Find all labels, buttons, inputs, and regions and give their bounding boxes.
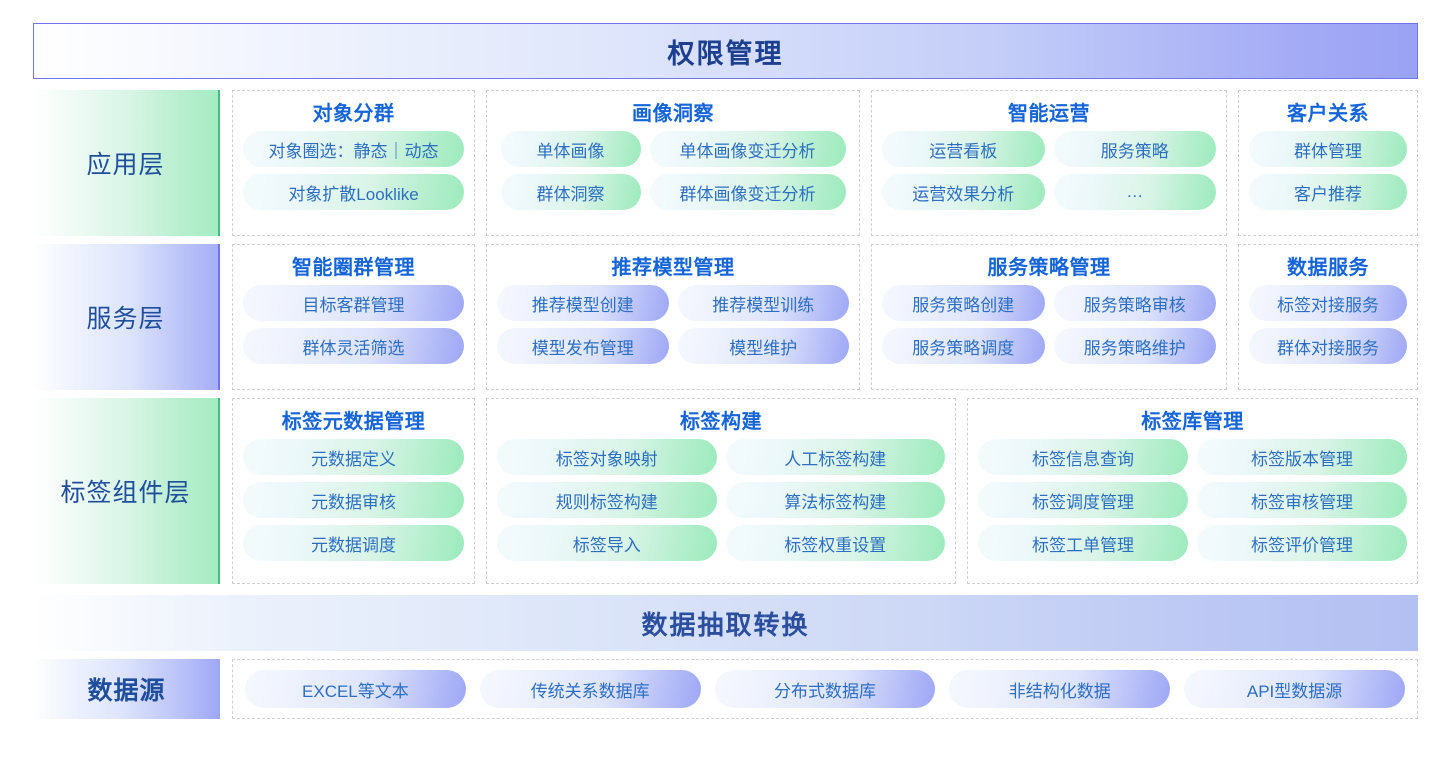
group-title: 标签元数据管理: [282, 405, 426, 434]
data-source-item[interactable]: 非结构化数据: [949, 670, 1170, 708]
pill-item[interactable]: 规则标签构建: [497, 482, 717, 518]
pill-item[interactable]: 群体洞察: [501, 174, 641, 210]
pill-line: 群体对接服务: [1249, 328, 1407, 364]
group-title: 智能圈群管理: [292, 251, 415, 280]
data-source-panel: EXCEL等文本 传统关系数据库 分布式数据库 非结构化数据 API型数据源: [232, 659, 1418, 719]
group-pill-rows: 服务策略创建 服务策略审核 服务策略调度 服务策略维护: [882, 285, 1216, 364]
pill-item-ellipsis[interactable]: …: [1054, 174, 1217, 210]
pill-item[interactable]: 标签权重设置: [726, 525, 946, 561]
group-object-segmentation[interactable]: 对象分群 对象圈选：静态｜动态 对象扩散Looklike: [232, 90, 475, 236]
pill-item[interactable]: 标签评价管理: [1197, 525, 1407, 561]
group-pill-rows: 运营看板 服务策略 运营效果分析 …: [882, 131, 1216, 210]
pill-item[interactable]: 单体画像变迁分析: [650, 131, 846, 167]
group-title: 智能运营: [1008, 97, 1090, 126]
pill-item[interactable]: 元数据定义: [243, 439, 464, 475]
pill-item[interactable]: 服务策略: [1054, 131, 1217, 167]
pill-item[interactable]: 运营效果分析: [882, 174, 1045, 210]
layer-row-tag-component: 标签组件层 标签元数据管理 元数据定义 元数据审核 元数据调度 标签构建: [33, 398, 1418, 584]
data-source-item[interactable]: 传统关系数据库: [480, 670, 701, 708]
pill-line: 群体洞察 群体画像变迁分析: [497, 174, 849, 210]
group-pill-rows: 目标客群管理 群体灵活筛选: [243, 285, 464, 364]
pill-item[interactable]: 服务策略创建: [882, 285, 1045, 321]
pill-line: 标签对象映射 人工标签构建: [497, 439, 945, 475]
pill-item[interactable]: 标签审核管理: [1197, 482, 1407, 518]
group-title: 客户关系: [1287, 97, 1369, 126]
group-pill-rows: 群体管理 客户推荐: [1249, 131, 1407, 210]
group-pill-rows: 推荐模型创建 推荐模型训练 模型发布管理 模型维护: [497, 285, 849, 364]
data-source-item[interactable]: API型数据源: [1184, 670, 1405, 708]
data-source-item[interactable]: 分布式数据库: [715, 670, 936, 708]
pill-item[interactable]: 群体对接服务: [1249, 328, 1407, 364]
pill-item[interactable]: 标签信息查询: [978, 439, 1188, 475]
group-recommend-model-management[interactable]: 推荐模型管理 推荐模型创建 推荐模型训练 模型发布管理 模型维护: [486, 244, 860, 390]
pill-item[interactable]: 推荐模型创建: [497, 285, 669, 321]
pill-item[interactable]: 推荐模型训练: [678, 285, 850, 321]
group-pill-rows: 单体画像 单体画像变迁分析 群体洞察 群体画像变迁分析: [497, 131, 849, 210]
pill-item[interactable]: 标签调度管理: [978, 482, 1188, 518]
group-pill-rows: 标签信息查询 标签版本管理 标签调度管理 标签审核管理 标签工单管理 标签评价管…: [978, 439, 1407, 561]
pill-item[interactable]: 标签对接服务: [1249, 285, 1407, 321]
group-pill-rows: 标签对象映射 人工标签构建 规则标签构建 算法标签构建 标签导入 标签权重设置: [497, 439, 945, 561]
pill-item[interactable]: 群体灵活筛选: [243, 328, 464, 364]
pill-line: 群体灵活筛选: [243, 328, 464, 364]
pill-item[interactable]: 目标客群管理: [243, 285, 464, 321]
pill-item[interactable]: 模型维护: [678, 328, 850, 364]
pill-line: 对象圈选：静态｜动态: [243, 131, 464, 167]
group-smart-group-management[interactable]: 智能圈群管理 目标客群管理 群体灵活筛选: [232, 244, 475, 390]
pill-item[interactable]: 人工标签构建: [726, 439, 946, 475]
pill-line: 规则标签构建 算法标签构建: [497, 482, 945, 518]
architecture-diagram: 权限管理 应用层 对象分群 对象圈选：静态｜动态 对象扩散Looklike 画像…: [0, 0, 1444, 766]
pill-item[interactable]: 元数据审核: [243, 482, 464, 518]
layer-row-service: 服务层 智能圈群管理 目标客群管理 群体灵活筛选 推荐模型管理 推荐模型创建: [33, 244, 1418, 390]
group-data-service[interactable]: 数据服务 标签对接服务 群体对接服务: [1238, 244, 1418, 390]
pill-item[interactable]: 对象扩散Looklike: [243, 174, 464, 210]
permission-management-banner: 权限管理: [33, 23, 1418, 79]
pill-item[interactable]: 模型发布管理: [497, 328, 669, 364]
pill-line: 运营效果分析 …: [882, 174, 1216, 210]
layer-groups-tag-component: 标签元数据管理 元数据定义 元数据审核 元数据调度 标签构建: [232, 398, 1418, 584]
layer-row-application: 应用层 对象分群 对象圈选：静态｜动态 对象扩散Looklike 画像洞察: [33, 90, 1418, 236]
pill-line: 标签调度管理 标签审核管理: [978, 482, 1407, 518]
pill-item[interactable]: 群体管理: [1249, 131, 1407, 167]
pill-line: 推荐模型创建 推荐模型训练: [497, 285, 849, 321]
group-service-strategy-management[interactable]: 服务策略管理 服务策略创建 服务策略审核 服务策略调度 服务策略维护: [871, 244, 1227, 390]
banner-title: 权限管理: [668, 32, 784, 71]
group-tag-library-management[interactable]: 标签库管理 标签信息查询 标签版本管理 标签调度管理 标签审核管理 标签工单管理…: [967, 398, 1418, 584]
pill-line: 服务策略调度 服务策略维护: [882, 328, 1216, 364]
group-title: 服务策略管理: [988, 251, 1111, 280]
pill-line: 服务策略创建 服务策略审核: [882, 285, 1216, 321]
mid-banner-title: 数据抽取转换: [641, 605, 809, 642]
pill-item[interactable]: 标签版本管理: [1197, 439, 1407, 475]
group-pill-rows: 对象圈选：静态｜动态 对象扩散Looklike: [243, 131, 464, 210]
pill-item[interactable]: 服务策略审核: [1054, 285, 1217, 321]
group-title: 推荐模型管理: [612, 251, 735, 280]
group-customer-relationship[interactable]: 客户关系 群体管理 客户推荐: [1238, 90, 1418, 236]
pill-item[interactable]: 对象圈选：静态｜动态: [243, 131, 464, 167]
group-profile-insight[interactable]: 画像洞察 单体画像 单体画像变迁分析 群体洞察 群体画像变迁分析: [486, 90, 860, 236]
pill-line: 元数据审核: [243, 482, 464, 518]
pill-item[interactable]: 算法标签构建: [726, 482, 946, 518]
pill-line: 目标客群管理: [243, 285, 464, 321]
pill-line: 群体管理: [1249, 131, 1407, 167]
pill-item[interactable]: 标签工单管理: [978, 525, 1188, 561]
group-title: 标签构建: [680, 405, 762, 434]
data-extraction-banner: 数据抽取转换: [33, 595, 1418, 651]
pill-line: 标签导入 标签权重设置: [497, 525, 945, 561]
pill-line: 元数据调度: [243, 525, 464, 561]
pill-item[interactable]: 客户推荐: [1249, 174, 1407, 210]
pill-item[interactable]: 标签导入: [497, 525, 717, 561]
data-source-item[interactable]: EXCEL等文本: [245, 670, 466, 708]
layer-groups-application: 对象分群 对象圈选：静态｜动态 对象扩散Looklike 画像洞察 单体画像 单…: [232, 90, 1418, 236]
layer-groups-service: 智能圈群管理 目标客群管理 群体灵活筛选 推荐模型管理 推荐模型创建 推荐模型训…: [232, 244, 1418, 390]
pill-line: 客户推荐: [1249, 174, 1407, 210]
pill-line: 标签信息查询 标签版本管理: [978, 439, 1407, 475]
pill-item[interactable]: 元数据调度: [243, 525, 464, 561]
pill-item[interactable]: 单体画像: [501, 131, 641, 167]
pill-line: 运营看板 服务策略: [882, 131, 1216, 167]
pill-line: 标签对接服务: [1249, 285, 1407, 321]
group-tag-metadata-management[interactable]: 标签元数据管理 元数据定义 元数据审核 元数据调度: [232, 398, 475, 584]
group-title: 对象分群: [313, 97, 395, 126]
pill-line: 模型发布管理 模型维护: [497, 328, 849, 364]
pill-item[interactable]: 群体画像变迁分析: [650, 174, 846, 210]
group-pill-rows: 元数据定义 元数据审核 元数据调度: [243, 439, 464, 561]
layer-label-data-source: 数据源: [33, 659, 220, 719]
layer-row-data-source: 数据源 EXCEL等文本 传统关系数据库 分布式数据库 非结构化数据 API型数…: [33, 659, 1418, 719]
group-title: 标签库管理: [1141, 405, 1244, 434]
layer-label-service: 服务层: [33, 244, 220, 390]
pill-line: 标签工单管理 标签评价管理: [978, 525, 1407, 561]
group-title: 数据服务: [1287, 251, 1369, 280]
pill-line: 单体画像 单体画像变迁分析: [497, 131, 849, 167]
pill-line: 元数据定义: [243, 439, 464, 475]
layer-label-application: 应用层: [33, 90, 220, 236]
group-tag-construction[interactable]: 标签构建 标签对象映射 人工标签构建 规则标签构建 算法标签构建 标签导入 标签…: [486, 398, 956, 584]
pill-item[interactable]: 服务策略维护: [1054, 328, 1217, 364]
layer-label-tag-component: 标签组件层: [33, 398, 220, 584]
pill-item[interactable]: 运营看板: [882, 131, 1045, 167]
pill-item[interactable]: 标签对象映射: [497, 439, 717, 475]
group-pill-rows: 标签对接服务 群体对接服务: [1249, 285, 1407, 364]
group-intelligent-operation[interactable]: 智能运营 运营看板 服务策略 运营效果分析 …: [871, 90, 1227, 236]
pill-line: 对象扩散Looklike: [243, 174, 464, 210]
pill-item[interactable]: 服务策略调度: [882, 328, 1045, 364]
group-title: 画像洞察: [632, 97, 714, 126]
